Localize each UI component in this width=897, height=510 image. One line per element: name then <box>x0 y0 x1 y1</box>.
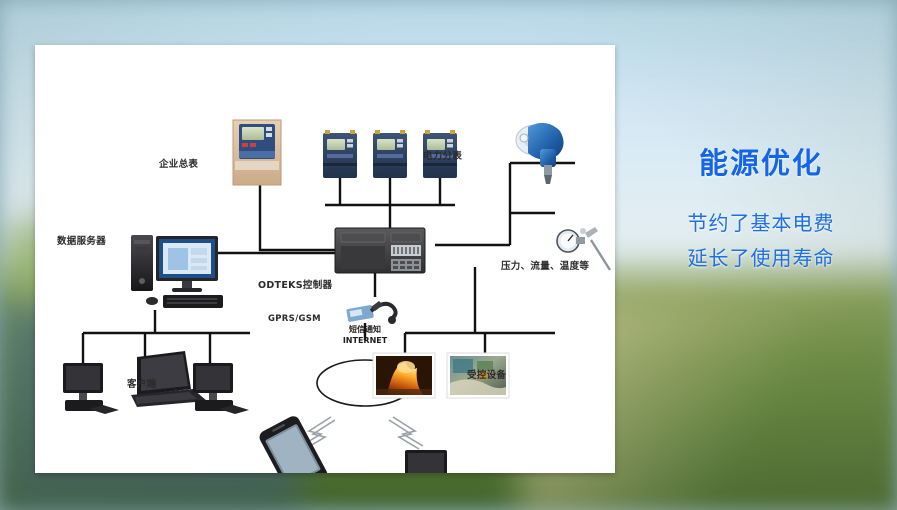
power-meter-1 <box>323 130 357 178</box>
mobile-phone-device <box>257 414 330 473</box>
wireless-signal-icons <box>301 417 423 449</box>
cloud-line-2: INTERNET <box>317 336 413 347</box>
network-topology-diagram: 企业总表 电力分表 ODTEKS控制器 数据服务器 GPRS/GSM 压力、流量… <box>35 45 615 473</box>
data-server-device <box>131 235 223 308</box>
headline-energy-optimization: 能源优化 <box>628 140 894 182</box>
label-client: 客户端 <box>127 376 156 390</box>
power-meter-2 <box>373 130 407 178</box>
odteks-controller-device <box>335 228 425 273</box>
side-text-panel: 能源优化 节约了基本电费 延长了使用寿命 <box>628 140 894 276</box>
label-odteks-controller: ODTEKS控制器 <box>258 277 332 291</box>
label-sensors: 压力、流量、温度等 <box>501 258 589 272</box>
benefit-line-2: 延长了使用寿命 <box>628 241 894 276</box>
client-pc-right-device <box>193 363 249 414</box>
label-gprs-gsm: GPRS/GSM <box>268 314 321 324</box>
furnace-photo-image <box>373 353 435 398</box>
label-controlled-equipment: 受控设备 <box>467 367 506 381</box>
gprs-modem-device <box>346 301 396 324</box>
diagram-card: 企业总表 电力分表 ODTEKS控制器 数据服务器 GPRS/GSM 压力、流量… <box>35 45 615 473</box>
label-data-server: 数据服务器 <box>57 233 106 247</box>
enterprise-meter-device <box>233 120 281 185</box>
slide-canvas: 企业总表 电力分表 ODTEKS控制器 数据服务器 GPRS/GSM 压力、流量… <box>0 0 897 510</box>
benefit-line-1: 节约了基本电费 <box>628 206 894 241</box>
pressure-transmitter-device <box>516 123 564 184</box>
label-enterprise-meter: 企业总表 <box>159 156 198 170</box>
label-power-submeter: 电力分表 <box>423 148 462 162</box>
remote-pc-device <box>405 450 463 473</box>
client-pc-left-device <box>63 363 119 414</box>
cloud-line-1: 短信通知 <box>317 325 413 336</box>
cloud-text: 短信通知 INTERNET <box>317 325 413 347</box>
